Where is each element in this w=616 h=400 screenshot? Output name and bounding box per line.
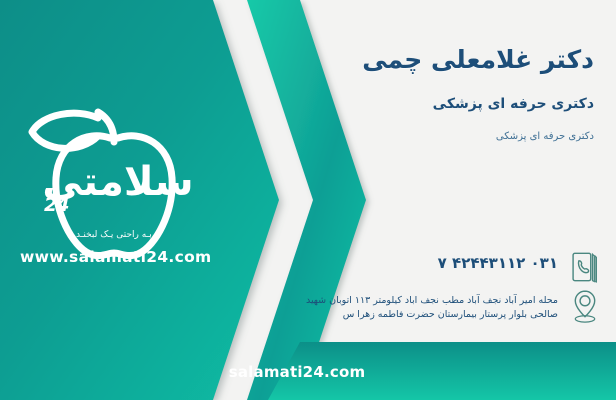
logo-tagline: بـه راحتی یـک لبخنـد [76, 230, 208, 240]
doctor-name: دکتر غلامعلی چمی [164, 44, 594, 75]
contact-phone-row: ۰۳۱ ۴۲۴۴۳۱۱۲ ۷ [132, 248, 602, 286]
logo-badge-24: 24 [44, 194, 68, 216]
contact-address-row: محله امیر آباد نجف آباد مطب نجف اباد کیل… [132, 288, 602, 326]
doctor-specialty-secondary: دکتری حرفه ای پزشکی [164, 131, 594, 142]
doctor-business-card: سلامتی 24 بـه راحتی یـک لبخنـد www.salam… [0, 0, 616, 400]
doctor-specialty-primary: دکتری حرفه ای پزشکی [164, 96, 594, 112]
footer-band: salamati24.com [0, 342, 616, 400]
phone-book-icon [568, 248, 602, 286]
map-pin-icon [568, 288, 602, 326]
footer-website[interactable]: salamati24.com [0, 363, 616, 381]
address-line-2: صالحی بلوار پرستار بیمارستان حضرت فاطمه … [132, 308, 558, 322]
phone-number[interactable]: ۰۳۱ ۴۲۴۴۳۱۱۲ ۷ [132, 254, 558, 272]
address-line-1: محله امیر آباد نجف آباد مطب نجف اباد کیل… [132, 294, 558, 308]
